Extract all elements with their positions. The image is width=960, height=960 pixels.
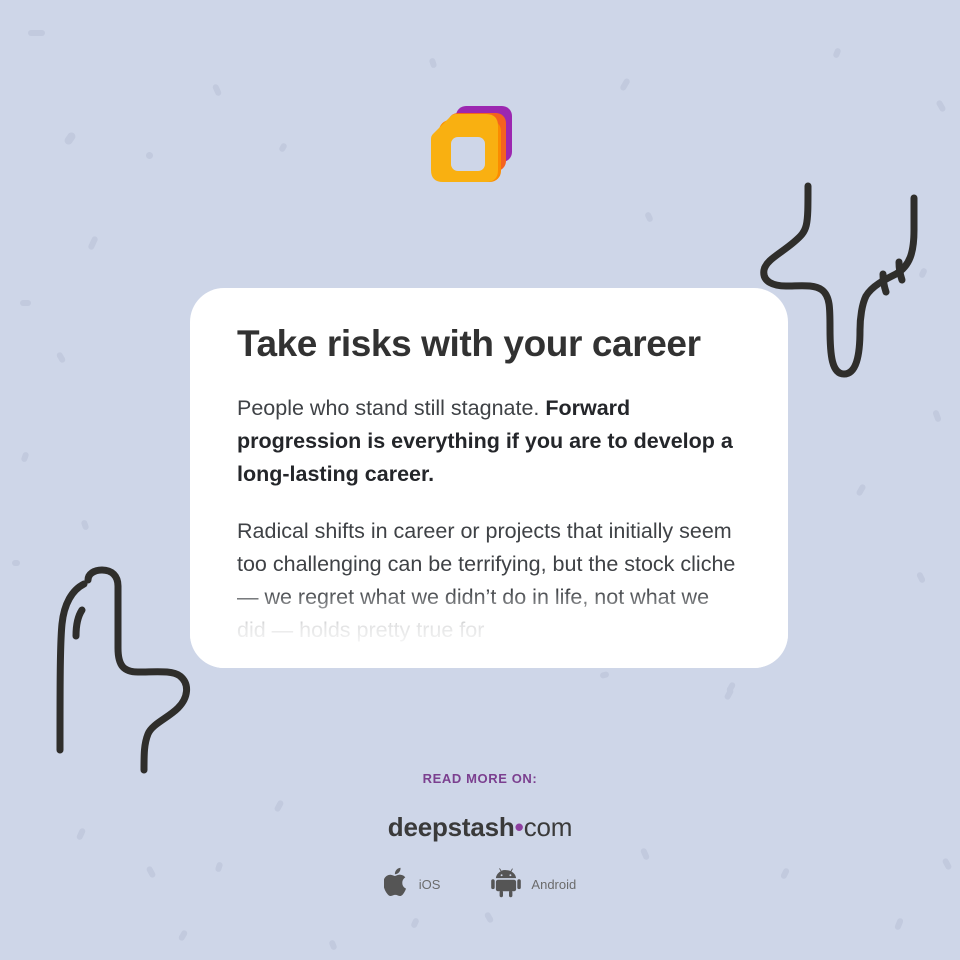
confetti-dash xyxy=(20,300,31,306)
confetti-dash xyxy=(410,917,420,929)
wordmark-brand: deepstash xyxy=(388,812,515,842)
paragraph-2-run-plain: Radical shifts in career or projects tha… xyxy=(237,519,735,642)
app-store-badges: iOS Android xyxy=(0,866,960,903)
confetti-dash xyxy=(178,929,189,942)
confetti-dash xyxy=(28,30,45,36)
poster-canvas: Take risks with your career People who s… xyxy=(0,0,960,960)
content-card: Take risks with your career People who s… xyxy=(190,288,788,668)
confetti-dash xyxy=(599,671,609,679)
read-more-label: READ MORE ON: xyxy=(0,771,960,786)
wordmark-dot: • xyxy=(515,812,524,842)
android-icon xyxy=(490,866,522,903)
confetti-dash xyxy=(644,211,654,223)
confetti-dash xyxy=(145,151,154,160)
deepstash-wordmark[interactable]: deepstash•com xyxy=(0,812,960,843)
card-content: Take risks with your career People who s… xyxy=(190,288,788,668)
confetti-dash xyxy=(80,519,89,530)
confetti-dash xyxy=(56,351,67,364)
confetti-dash xyxy=(484,911,495,924)
confetti-dash xyxy=(87,235,98,250)
android-label: Android xyxy=(531,877,576,892)
body-paragraph-2: Radical shifts in career or projects tha… xyxy=(237,515,741,647)
confetti-dash xyxy=(619,77,631,91)
confetti-dash xyxy=(640,847,650,860)
ios-badge[interactable]: iOS xyxy=(384,866,441,903)
ios-label: iOS xyxy=(419,877,441,892)
logo-cutout xyxy=(451,137,485,171)
confetti-dash xyxy=(63,131,77,146)
wordmark-tld: com xyxy=(524,812,573,842)
confetti-dash xyxy=(274,799,285,812)
confetti-dash xyxy=(278,142,288,153)
confetti-dash xyxy=(894,917,904,930)
confetti-dash xyxy=(832,47,841,59)
confetti-dash xyxy=(916,571,926,584)
paragraph-1-run-plain: People who stand still stagnate. xyxy=(237,396,545,420)
confetti-dash xyxy=(726,681,737,694)
confetti-dash xyxy=(12,560,20,566)
confetti-dash xyxy=(855,483,866,496)
deepstash-logo xyxy=(424,100,528,200)
apple-icon xyxy=(384,866,410,903)
confetti-dash xyxy=(212,83,223,96)
confetti-dash xyxy=(724,687,735,700)
confetti-dash xyxy=(918,267,928,279)
body-paragraph-1: People who stand still stagnate. Forward… xyxy=(237,392,741,491)
confetti-dash xyxy=(429,57,438,68)
confetti-dash xyxy=(932,409,942,422)
page-title: Take risks with your career xyxy=(237,322,741,366)
confetti-dash xyxy=(935,99,946,112)
confetti-dash xyxy=(328,939,337,951)
android-badge[interactable]: Android xyxy=(490,866,576,903)
confetti-dash xyxy=(20,451,29,462)
